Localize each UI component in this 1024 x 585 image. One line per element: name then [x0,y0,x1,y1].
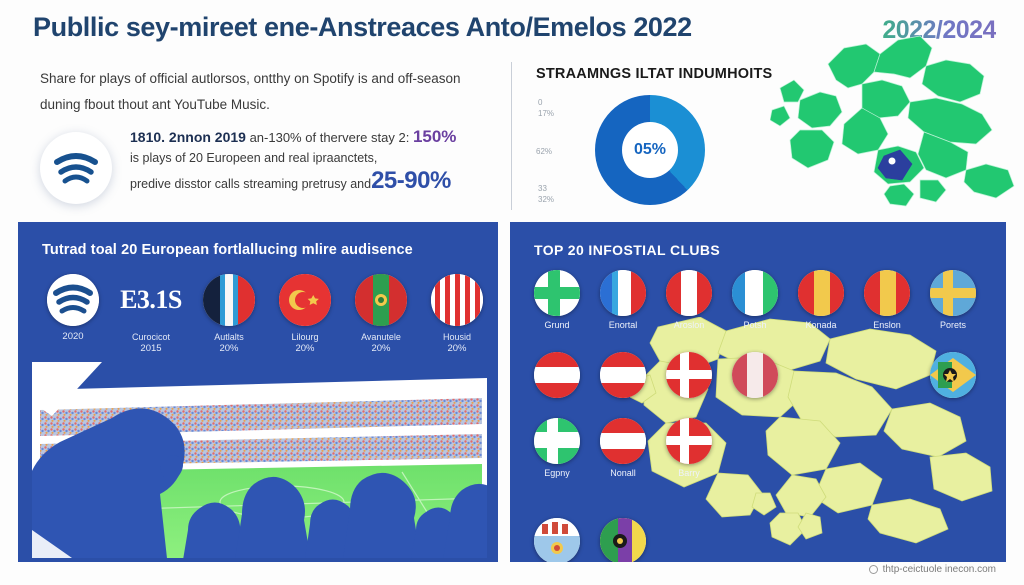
flag-icon-peru-2 [732,352,778,398]
donut-label-2: 62% [536,146,552,157]
list-item[interactable]: Autlalts 20% [196,274,262,355]
list-item-label: Porets [928,320,978,330]
stat-text-b: of thervere stay 2: [305,130,409,145]
list-item-label: Nonall [598,468,648,478]
list-item-value: 2020 [40,331,106,343]
stat-block: 1810. 2nnon 2019 an-130% of thervere sta… [40,126,505,197]
stadium-crowd-illustration [32,362,487,558]
flag-icon-portugal-2 [600,518,646,562]
footer-url[interactable]: thtp-ceictuole inecon.com [883,564,996,575]
spotify-icon [47,274,99,326]
spotify-icon [40,132,112,204]
donut-label-1: 0 17% [538,97,554,119]
stat-value-primary: 1810. 2nnon 2019 [130,129,246,145]
list-item-caption: 2020 [40,331,106,343]
list-item-label: Enslon [862,320,912,330]
list-item-value: 20% [424,343,490,355]
left-panel-item-list: 2020 E3.1S Curocicot 2015 [40,274,490,355]
stat-highlight-range: 25-90% [371,167,451,194]
list-item[interactable] [730,352,780,402]
donut-hole: 05% [622,122,678,178]
list-item[interactable] [664,352,714,402]
list-item-placeholder [862,352,912,402]
list-item[interactable]: Enortal [598,270,648,330]
list-item-label: Konada [796,320,846,330]
left-panel: Tutrad toal 20 European fortlallucing ml… [18,222,498,562]
list-item[interactable]: Grund [532,270,582,330]
list-item-name: Lilourg [291,332,318,342]
stat-text-a: an-130% [250,130,302,145]
donut-label-3-value: 32% [538,194,554,205]
text-e31s: E3.1S [116,274,186,326]
list-item[interactable]: Lilourg 20% [272,274,338,355]
flag-icon-sweden [930,270,976,316]
list-item[interactable] [928,352,978,402]
list-item[interactable] [598,352,648,402]
flag-icon-denmark [666,352,712,398]
vertical-divider [511,62,512,210]
list-item[interactable]: Potsh [730,270,780,330]
list-item-label: Barry [664,468,714,478]
stat-line-3: predive disstor calls streaming pretrusy… [130,177,371,191]
infographic-canvas: Publlic sey-mireet ene-Anstreaces Anto/E… [0,0,1024,585]
donut-label-1-value: 17% [538,108,554,119]
flag-icon-denmark-2 [666,418,712,464]
list-item[interactable]: Housid 20% [424,274,490,355]
donut-label-1-top: 0 [538,97,554,108]
list-item-caption: Curocicot 2015 [116,331,186,355]
list-item-value: 20% [348,343,414,355]
list-item[interactable]: Avanutele 20% [348,274,414,355]
list-item-placeholder [796,352,846,402]
donut-label-2-value: 62% [536,146,552,157]
list-item[interactable]: Enslon [862,270,912,330]
list-item[interactable]: Konada [796,270,846,330]
flag-icon-peru [666,270,712,316]
list-item-value: 2015 [116,343,186,355]
list-item-label: Egpny [532,468,582,478]
list-item[interactable]: Nonall [598,418,648,478]
list-item-value: 20% [272,343,338,355]
list-item[interactable]: Porets [928,270,978,330]
globe-icon [869,565,878,574]
flag-icon-france [203,274,255,326]
list-item-caption: Autlalts 20% [196,331,262,355]
donut-chart: 05% [595,95,705,205]
donut-chart-title: STRAAMNGS ILTAT INDUMHOITS [536,66,772,82]
stat-line-2: is plays of 20 Europeen and real ipraanc… [130,148,502,168]
page-title: Publlic sey-mireet ene-Anstreaces Anto/E… [33,12,692,43]
list-item-label: Potsh [730,320,780,330]
flag-row: Grund Enortal Aroslon [532,270,998,330]
list-item[interactable] [532,352,582,402]
intro-paragraph: Share for plays of official autlorsos, o… [40,66,490,118]
flag-icon-austria [534,352,580,398]
crest-icon [534,518,580,562]
list-item[interactable]: Potiro [598,518,648,562]
europe-map-green [770,30,1024,215]
list-item-label: Enortal [598,320,648,330]
donut-label-3: 33 32% [538,183,554,205]
stat-highlight-150: 150% [413,127,456,146]
flag-icon-austria-3 [600,418,646,464]
flag-icon-portugal [355,274,407,326]
list-item-name: Autlalts [214,332,244,342]
list-item[interactable]: Barry [664,418,714,478]
donut-center-value: 05% [634,141,666,159]
flag-icon-brazil-alt [930,352,976,398]
flag-icon-nordic-green2 [534,418,580,464]
list-item-name: Housid [443,332,471,342]
flag-icon-stripes [431,274,483,326]
list-item[interactable]: Eryrt [532,518,582,562]
list-item-value: 20% [196,343,262,355]
list-item[interactable]: E3.1S Curocicot 2015 [116,274,186,355]
flag-icon-france [600,270,646,316]
list-item-caption: Avanutele 20% [348,331,414,355]
list-item[interactable]: Egpny [532,418,582,478]
right-panel: TOP 20 INFOSTIAL CLUBS [510,222,1006,562]
flag-icon-spain [798,270,844,316]
list-item-name: Curocicot [132,332,170,342]
list-item[interactable]: 2020 [40,274,106,355]
flag-icon-austria-2 [600,352,646,398]
flag-icon-nordic-green [534,270,580,316]
flag-row [532,352,998,402]
flag-icon-turkey [279,274,331,326]
list-item-label: Grund [532,320,582,330]
footer: thtp-ceictuole inecon.com [869,564,996,575]
list-item-caption: Housid 20% [424,331,490,355]
list-item-caption: Lilourg 20% [272,331,338,355]
right-panel-title: TOP 20 INFOSTIAL CLUBS [534,242,720,258]
flag-icon-italy [732,270,778,316]
flag-icon-spain-2 [864,270,910,316]
donut-label-3-top: 33 [538,183,554,194]
list-item-name: Avanutele [361,332,401,342]
left-panel-title: Tutrad toal 20 European fortlallucing ml… [42,242,413,258]
list-item[interactable]: Aroslon [664,270,714,330]
list-item-label: Aroslon [664,320,714,330]
